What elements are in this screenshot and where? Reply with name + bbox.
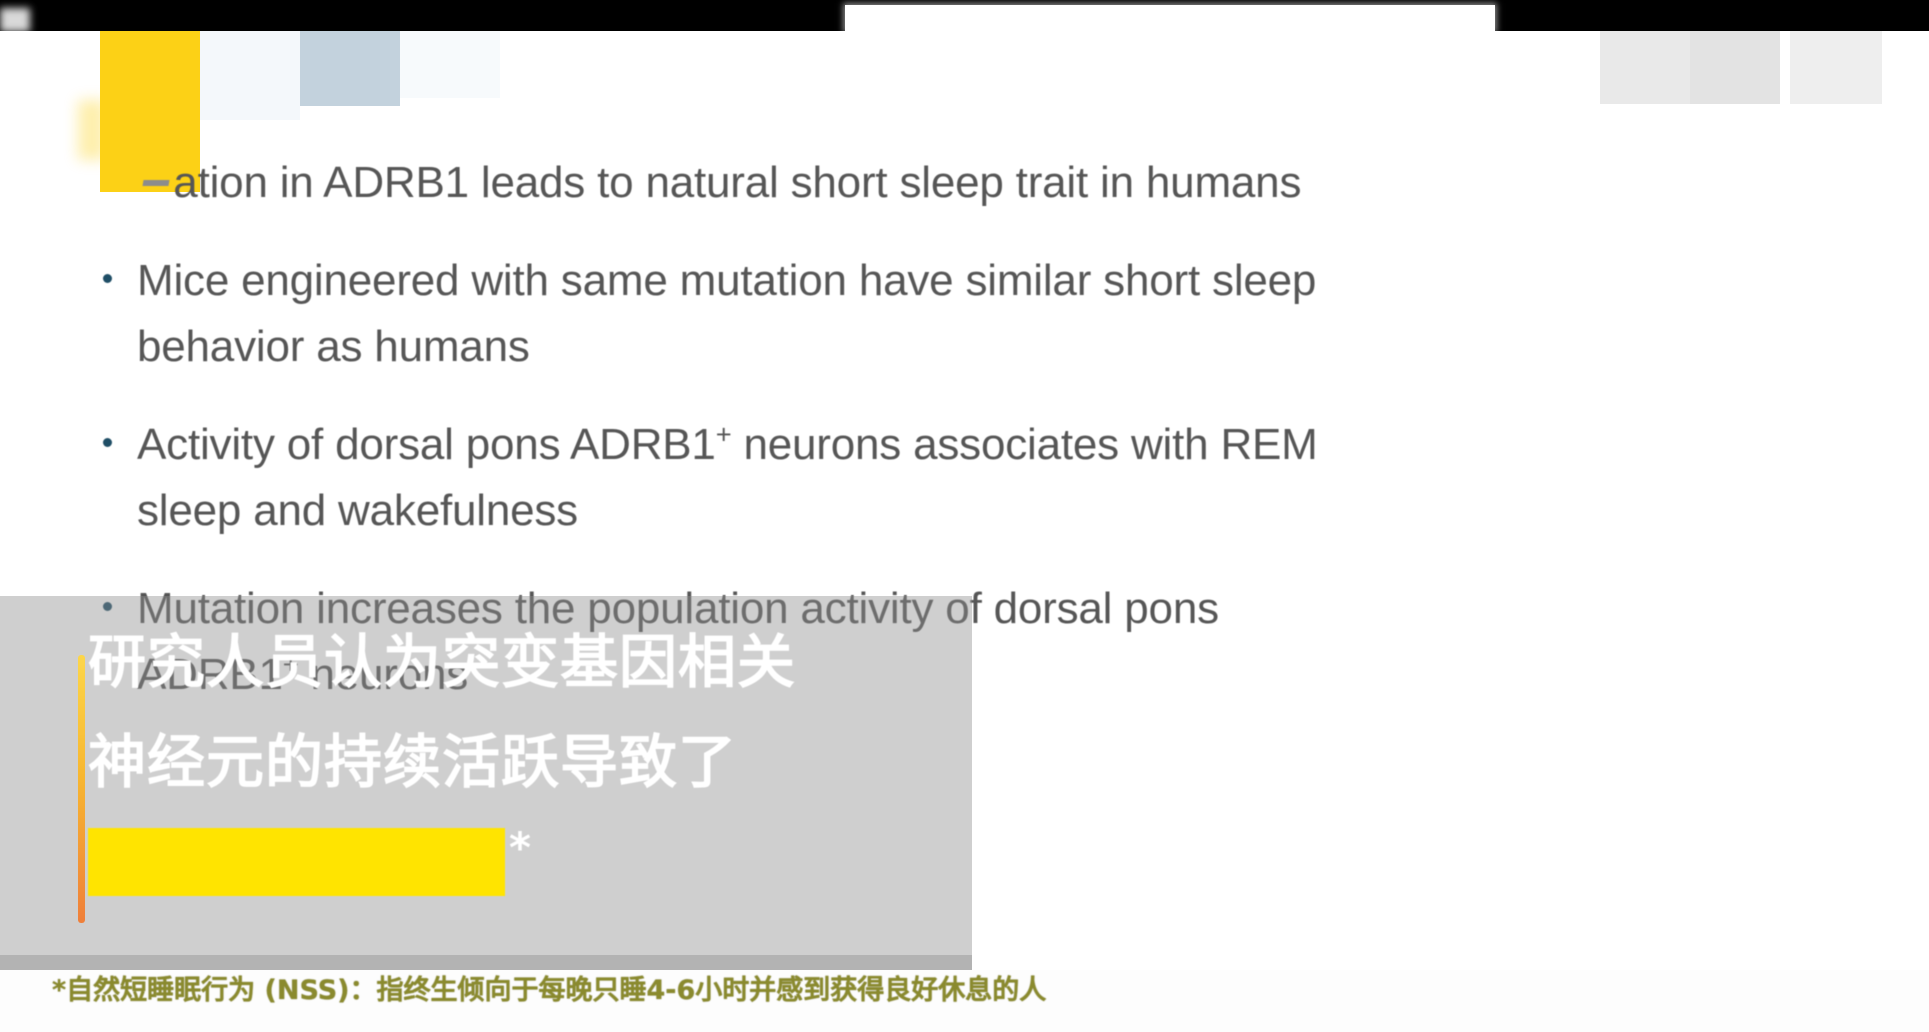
decor-block-gray-1 [1600,28,1690,104]
bullet-item: utation in ADRB1 leads to natural short … [95,150,1795,216]
subtitle-highlight-text: 自然短睡眠行为 [88,828,505,896]
bullet-dot-icon [103,274,112,283]
bullet-text: Activity of dorsal pons ADRB1+ neurons a… [95,412,1352,544]
bullet-item: Activity of dorsal pons ADRB1+ neurons a… [95,412,1795,544]
letterbox-left-highlight [0,8,30,32]
bullet-text: utation in ADRB1 leads to natural short … [95,150,1352,216]
bullet-dot-icon [103,438,112,447]
bullet-text: Mice engineered with same mutation have … [95,248,1352,380]
subtitle-line-3: 自然短睡眠行为* [88,832,532,892]
bullet-text-body: ation in ADRB1 leads to natural short sl… [173,158,1301,207]
bullet-clipped-prefix: ut [137,150,173,216]
subtitle-line-2: 神经元的持续活跃导致了 [88,732,737,792]
footnote-text: *自然短睡眠行为 (NSS)：指终生倾向于每晚只睡4-6小时并感到获得良好休息的… [52,973,1046,1009]
letterbox-white-strip [845,5,1495,31]
decor-block-gray-2 [1690,28,1780,104]
decor-block-pale-left [200,28,300,120]
decor-block-blue [300,28,400,106]
bullet-item: Mice engineered with same mutation have … [95,248,1795,380]
subtitle-line-1: 研究人员认为突变基因相关 [88,632,796,692]
decor-block-pale-right [400,28,500,98]
video-frame: utation in ADRB1 leads to natural short … [0,0,1929,1032]
bullet-text-pre: Activity of dorsal pons ADRB1 [137,420,716,469]
accent-gradient-bar [78,655,85,923]
superscript-plus: + [716,418,732,449]
decor-block-gray-3 [1790,28,1882,104]
subtitle-footnote-star: * [509,823,532,872]
